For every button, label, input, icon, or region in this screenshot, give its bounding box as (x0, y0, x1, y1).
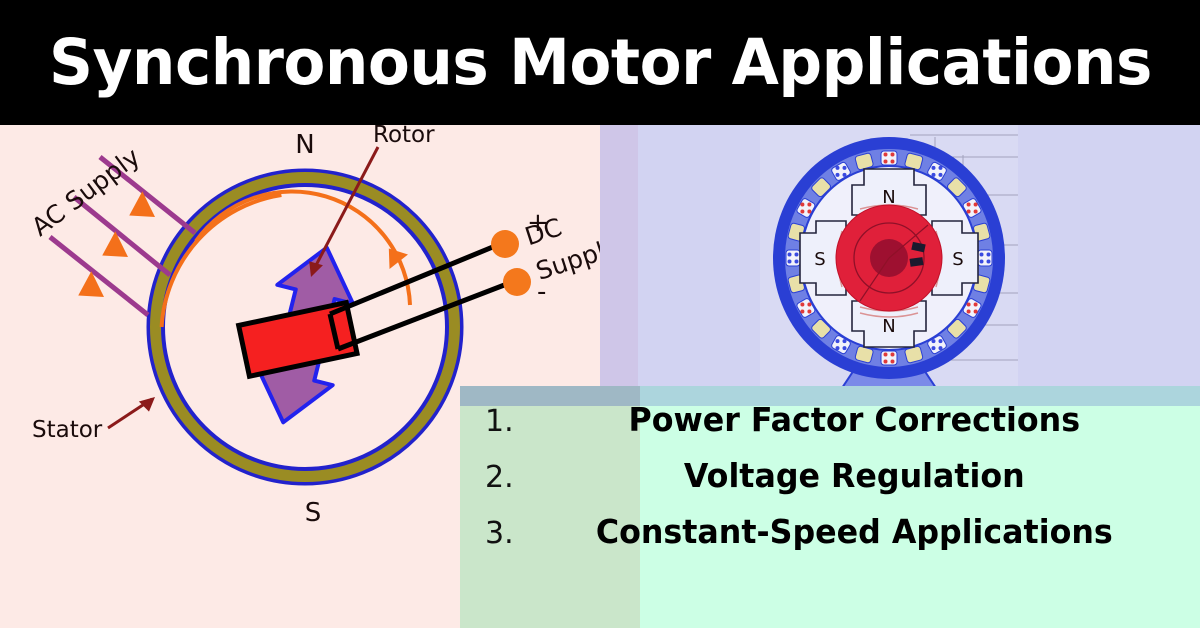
label-pole-north: N (295, 130, 314, 160)
dc-terminal-negative[interactable] (503, 268, 531, 296)
title-bar: Synchronous Motor Applications (0, 0, 1200, 125)
label-stator: Stator (32, 417, 103, 443)
label-rotor: Rotor (373, 125, 435, 148)
list-item[interactable]: 3. Constant-Speed Applications (460, 512, 1200, 568)
list-item-number: 1. (485, 404, 547, 439)
list-item-number: 3. (485, 516, 547, 551)
list-item-label: Power Factor Corrections (560, 400, 1187, 439)
pole-label-s-left: S (814, 249, 825, 270)
applications-list: 1. Power Factor Corrections 2. Voltage R… (460, 400, 1200, 580)
list-item[interactable]: 1. Power Factor Corrections (460, 400, 1200, 456)
pole-label-s-right: S (952, 249, 963, 270)
page-title: Synchronous Motor Applications (49, 31, 1152, 94)
list-item-label: Voltage Regulation (560, 456, 1187, 495)
slide-canvas: Synchronous Motor Applications (0, 0, 1200, 628)
list-item[interactable]: 2. Voltage Regulation (460, 456, 1200, 512)
label-terminal-negative: - (537, 277, 546, 307)
pole-label-n-bottom: N (882, 316, 895, 337)
label-terminal-positive: + (527, 208, 549, 238)
list-item-label: Constant-Speed Applications (560, 512, 1187, 551)
list-item-number: 2. (485, 460, 547, 495)
motor-illustration: Po N N S S (760, 125, 1018, 390)
label-pole-south: S (305, 498, 322, 528)
dc-terminal-positive[interactable] (491, 230, 519, 258)
